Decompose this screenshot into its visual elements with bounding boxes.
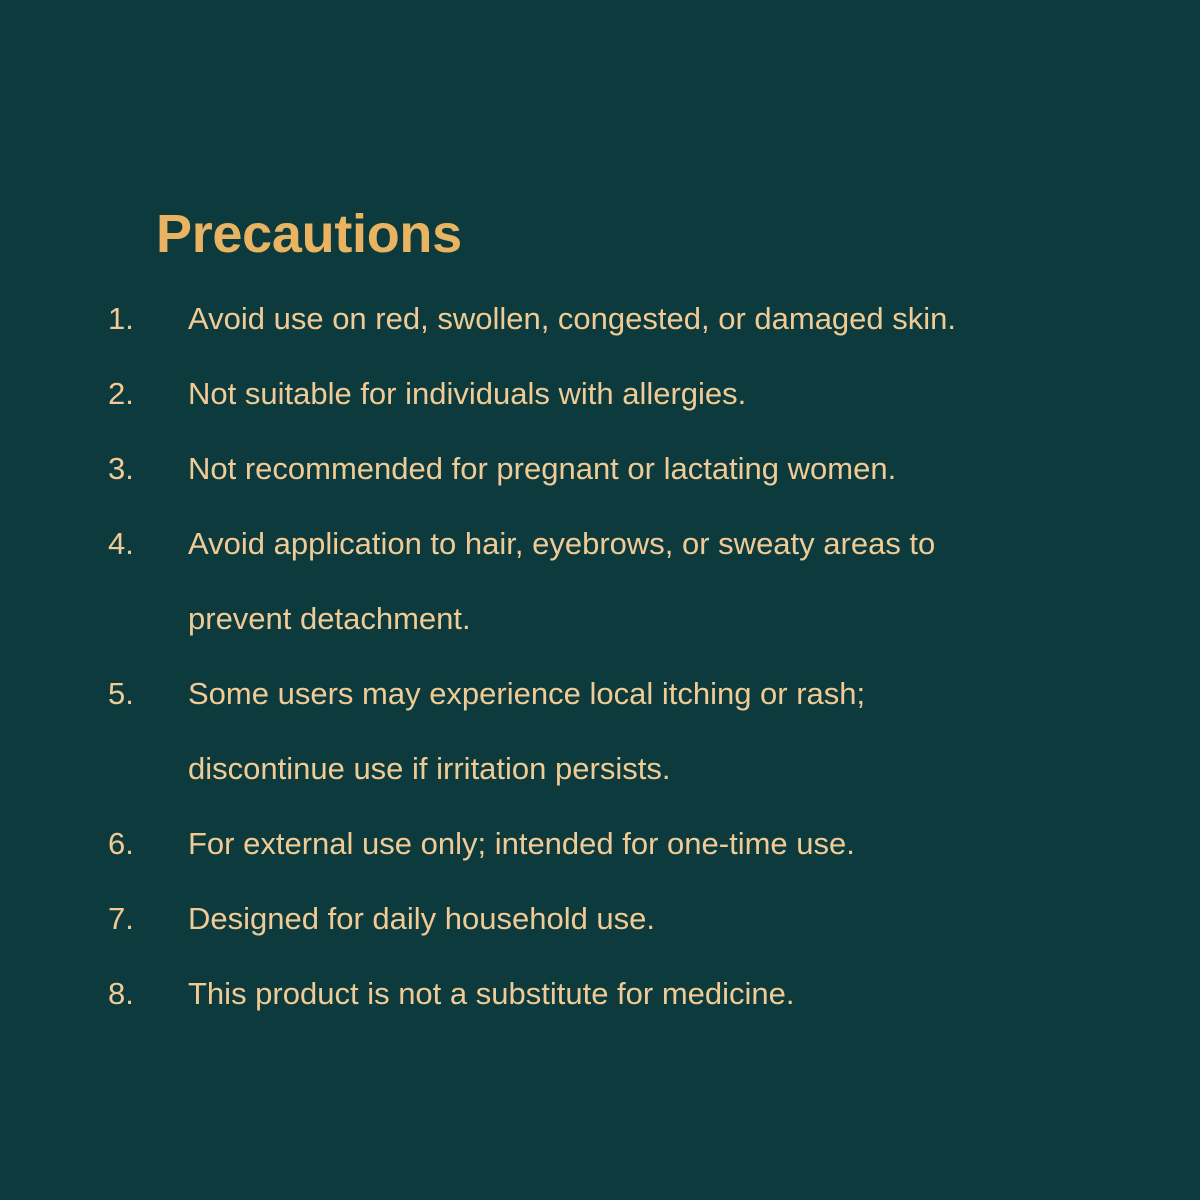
list-item-number: 4. xyxy=(108,506,188,581)
list-item-number: 8. xyxy=(108,956,188,1031)
list-item-number: 5. xyxy=(108,656,188,731)
list-item-number: 3. xyxy=(108,431,188,506)
list-item-number: 1. xyxy=(108,281,188,356)
list-item-text: This product is not a substitute for med… xyxy=(188,956,1128,1031)
list-item-number: 6. xyxy=(108,806,188,881)
list-item-text: Not suitable for individuals with allerg… xyxy=(188,356,1128,431)
list-item-text: Avoid use on red, swollen, congested, or… xyxy=(188,281,1128,356)
page-title: Precautions xyxy=(156,204,462,264)
list-item-text: Designed for daily household use. xyxy=(188,881,1128,956)
list-item: 3. Not recommended for pregnant or lacta… xyxy=(108,431,1128,506)
list-item: 2. Not suitable for individuals with all… xyxy=(108,356,1128,431)
list-item-text: For external use only; intended for one-… xyxy=(188,806,1128,881)
list-item: 7. Designed for daily household use. xyxy=(108,881,1128,956)
list-item-number: 2. xyxy=(108,356,188,431)
list-item-text: Avoid application to hair, eyebrows, or … xyxy=(188,506,1128,656)
list-item: 8. This product is not a substitute for … xyxy=(108,956,1128,1031)
precautions-list: 1. Avoid use on red, swollen, congested,… xyxy=(108,281,1128,1031)
list-item: 6. For external use only; intended for o… xyxy=(108,806,1128,881)
precautions-slide: Precautions 1. Avoid use on red, swollen… xyxy=(0,0,1200,1200)
list-item-text: Some users may experience local itching … xyxy=(188,656,1128,806)
list-item: 5. Some users may experience local itchi… xyxy=(108,656,1128,806)
list-item-text: Not recommended for pregnant or lactatin… xyxy=(188,431,1128,506)
list-item: 1. Avoid use on red, swollen, congested,… xyxy=(108,281,1128,356)
list-item: 4. Avoid application to hair, eyebrows, … xyxy=(108,506,1128,656)
list-item-number: 7. xyxy=(108,881,188,956)
